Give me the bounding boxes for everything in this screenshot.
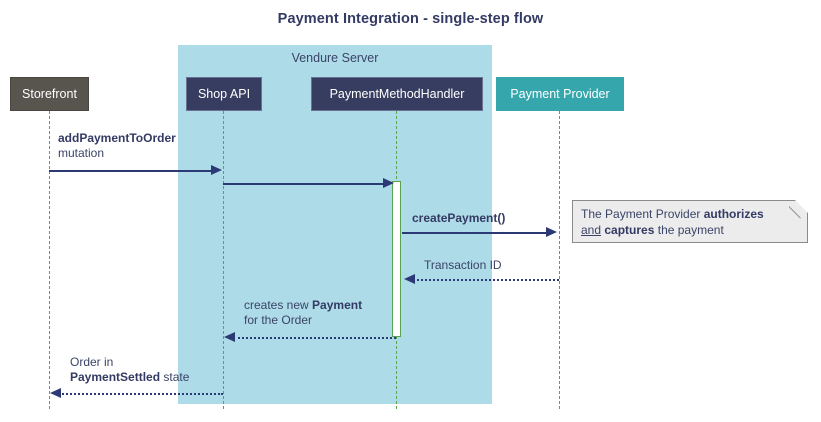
message-arrow-shop-api-to-handler — [223, 183, 384, 185]
participant-storefront-label: Storefront — [22, 87, 77, 101]
participant-storefront[interactable]: Storefront — [10, 77, 89, 111]
lifeline-shop-api — [223, 111, 224, 409]
note-payment-provider: The Payment Provider authorizes and capt… — [572, 200, 808, 243]
participant-shop-api-label: Shop API — [198, 87, 250, 101]
arrowhead-left-icon — [404, 274, 415, 284]
message-label-line2: for the Order — [244, 313, 312, 327]
note-line2-bold: captures — [604, 223, 654, 237]
message-label-order-payment-settled: Order in PaymentSettled state — [70, 355, 189, 385]
participant-payment-method-handler[interactable]: PaymentMethodHandler — [311, 77, 483, 111]
note-line2-tail: the payment — [654, 223, 723, 237]
lifeline-storefront — [49, 111, 50, 409]
message-label-line1: creates new Payment — [244, 298, 362, 312]
participant-shop-api[interactable]: Shop API — [186, 77, 262, 111]
message-label-line1: createPayment() — [412, 211, 505, 225]
message-label-line2: PaymentSettled state — [70, 370, 189, 384]
message-arrow-creates-new-payment — [233, 337, 396, 339]
message-label-add-payment-to-order: addPaymentToOrder mutation — [58, 131, 176, 161]
participant-payment-provider-label: Payment Provider — [510, 87, 609, 101]
sequence-diagram: Payment Integration - single-step flow V… — [0, 0, 821, 422]
arrowhead-left-icon — [224, 332, 235, 342]
message-arrow-create-payment — [402, 232, 547, 234]
arrowhead-right-icon — [546, 227, 557, 237]
message-label-creates-new-payment: creates new Payment for the Order — [244, 298, 362, 328]
message-label-transaction-id: Transaction ID — [424, 258, 502, 273]
message-label-line1-bold: Payment — [312, 298, 362, 312]
note-line1-plain: The Payment Provider — [581, 207, 704, 221]
message-label-line1: Order in — [70, 355, 113, 369]
message-label-line2-bold: PaymentSettled — [70, 370, 160, 384]
arrowhead-right-icon — [211, 165, 222, 175]
participant-payment-method-handler-label: PaymentMethodHandler — [330, 87, 465, 101]
participant-payment-provider[interactable]: Payment Provider — [496, 77, 624, 111]
note-text: The Payment Provider authorizes and capt… — [581, 206, 803, 238]
arrowhead-left-icon — [50, 388, 61, 398]
note-line2-underline: and — [581, 223, 601, 237]
note-line1-bold: authorizes — [704, 207, 764, 221]
message-arrow-add-payment-to-order — [49, 170, 212, 172]
diagram-title: Payment Integration - single-step flow — [0, 11, 821, 27]
arrowhead-right-icon — [383, 178, 394, 188]
message-label-create-payment: createPayment() — [412, 211, 505, 226]
lifeline-payment-provider — [559, 111, 560, 409]
activation-bar-payment-method-handler — [392, 181, 401, 337]
message-label-line1: addPaymentToOrder — [58, 131, 176, 145]
message-arrow-order-payment-settled — [59, 393, 223, 395]
message-label-line1: Transaction ID — [424, 258, 502, 272]
message-arrow-transaction-id — [413, 279, 559, 281]
group-label: Vendure Server — [178, 51, 492, 65]
message-label-line2: mutation — [58, 146, 104, 160]
